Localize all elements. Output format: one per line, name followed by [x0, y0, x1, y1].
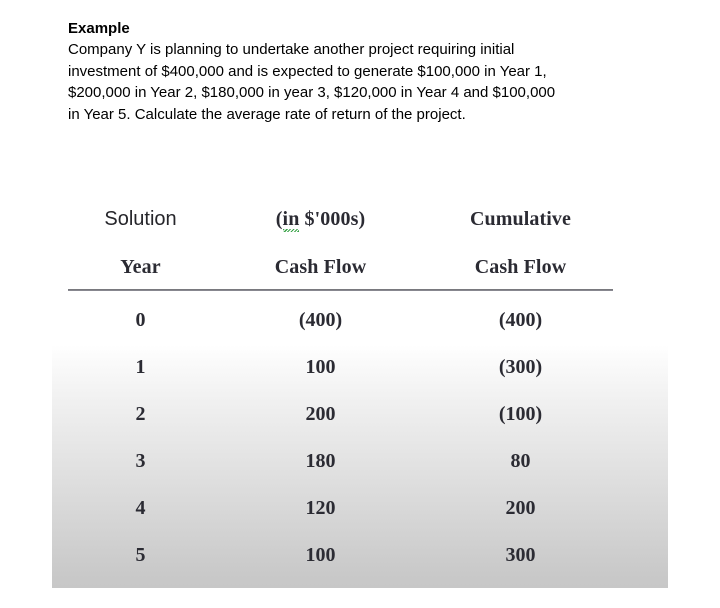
table-row: 4 120 200 — [68, 497, 613, 523]
cell-cumulative: 200 — [428, 497, 613, 520]
table-header-row-lower: Year Cash Flow Cash Flow — [68, 256, 613, 279]
cell-year: 1 — [68, 356, 213, 379]
units-header: (in $'000s) — [213, 208, 428, 231]
table-row: 1 100 (300) — [68, 356, 613, 382]
cash-flow-table: Solution (in $'000s) Cumulative Year Cas… — [0, 0, 720, 608]
cell-cumulative: 300 — [428, 544, 613, 567]
cell-cash-flow: (400) — [213, 309, 428, 332]
units-prefix: ( — [276, 208, 283, 230]
cell-cash-flow: 100 — [213, 544, 428, 567]
cell-cumulative: 80 — [428, 450, 613, 473]
cell-cash-flow: 200 — [213, 403, 428, 426]
cash-flow-header: Cash Flow — [213, 256, 428, 279]
cell-year: 0 — [68, 309, 213, 332]
cell-year: 3 — [68, 450, 213, 473]
table-header-row-upper: Solution (in $'000s) Cumulative — [68, 208, 613, 231]
table-row: 0 (400) (400) — [68, 309, 613, 335]
cell-cash-flow: 180 — [213, 450, 428, 473]
slide-canvas: Example Company Y is planning to underta… — [0, 0, 720, 608]
cell-cumulative: (300) — [428, 356, 613, 379]
cell-cumulative: (100) — [428, 403, 613, 426]
cumulative-header: Cumulative — [428, 208, 613, 231]
table-header-divider — [68, 289, 613, 291]
cumulative-cash-flow-header: Cash Flow — [428, 256, 613, 279]
cell-year: 4 — [68, 497, 213, 520]
table-row: 3 180 80 — [68, 450, 613, 476]
cell-cumulative: (400) — [428, 309, 613, 332]
cell-cash-flow: 100 — [213, 356, 428, 379]
cell-year: 2 — [68, 403, 213, 426]
units-suffix: $'000s) — [299, 208, 365, 230]
units-word-misspelled: in — [283, 208, 300, 231]
solution-label: Solution — [68, 208, 213, 231]
cell-cash-flow: 120 — [213, 497, 428, 520]
table-row: 2 200 (100) — [68, 403, 613, 429]
table-row: 5 100 300 — [68, 544, 613, 570]
cell-year: 5 — [68, 544, 213, 567]
year-header: Year — [68, 256, 213, 279]
